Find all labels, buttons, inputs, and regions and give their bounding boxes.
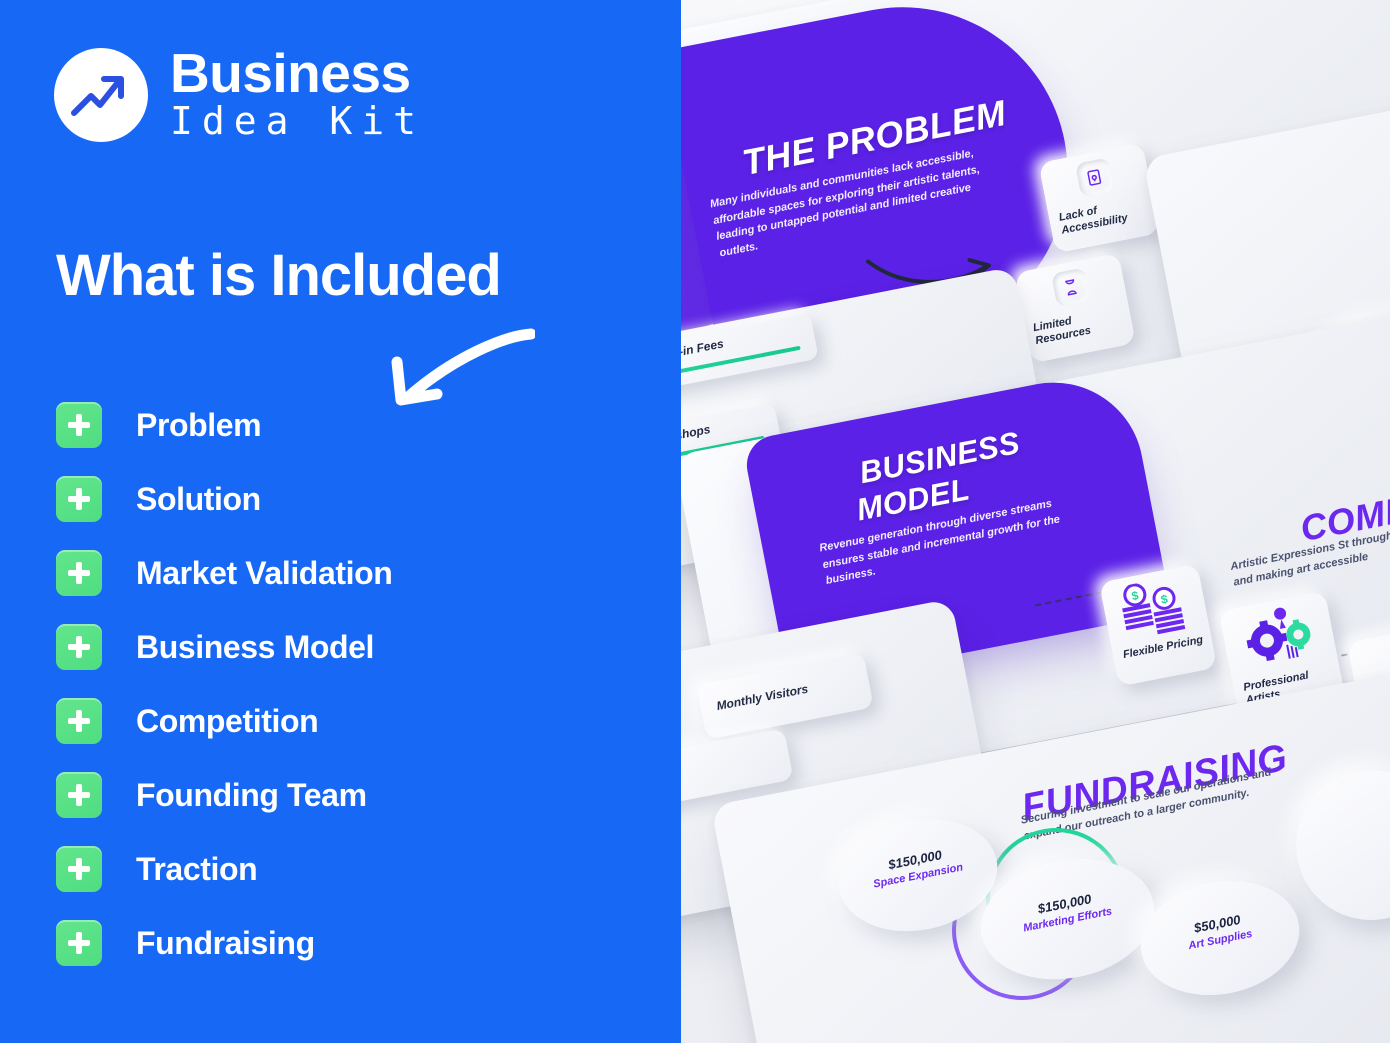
hourglass-icon	[1051, 267, 1091, 307]
list-item-founding-team[interactable]: Founding Team	[56, 758, 616, 832]
list-item-label: Founding Team	[136, 777, 367, 814]
left-info-panel: Business Idea Kit What is Included Probl…	[0, 0, 681, 1043]
brand-wordmark: Business Idea Kit	[170, 46, 425, 144]
brand-line-2: Idea Kit	[170, 100, 425, 144]
list-item-business-model[interactable]: Business Model	[56, 610, 616, 684]
list-item-label: Solution	[136, 481, 261, 518]
plus-icon	[56, 402, 102, 448]
growth-chart-arrow-icon	[54, 48, 148, 142]
list-item-competition[interactable]: Competition	[56, 684, 616, 758]
plus-icon	[56, 920, 102, 966]
money-stacks-icon: $ $	[1116, 575, 1191, 643]
plus-icon	[56, 624, 102, 670]
gears-icon	[1235, 600, 1319, 671]
poster-canvas: THE PROBLEM Many individuals and communi…	[0, 0, 1390, 1043]
problem-card-accessibility-label: Lack of Accessibility	[1058, 195, 1153, 238]
list-item-market-validation[interactable]: Market Validation	[56, 536, 616, 610]
plus-icon	[56, 550, 102, 596]
list-item-label: Business Model	[136, 629, 374, 666]
list-item-fundraising[interactable]: Fundraising	[56, 906, 616, 980]
included-items-list: Problem Solution Market Validation Busin…	[56, 388, 616, 980]
list-item-label: Market Validation	[136, 555, 392, 592]
plus-icon	[56, 846, 102, 892]
plus-icon	[56, 476, 102, 522]
page-title: What is Included	[56, 247, 501, 305]
problem-card-limited-resources-label: Limited Resources	[1032, 305, 1129, 348]
brand-logo: Business Idea Kit	[54, 46, 425, 144]
list-item-label: Traction	[136, 851, 257, 888]
list-item-label: Competition	[136, 703, 318, 740]
plus-icon	[56, 698, 102, 744]
list-item-label: Fundraising	[136, 925, 315, 962]
list-item-problem[interactable]: Problem	[56, 388, 616, 462]
list-item-traction[interactable]: Traction	[56, 832, 616, 906]
locked-document-icon	[1075, 157, 1115, 197]
competition-card-flexible-pricing[interactable]: $ $ Flexible Pricing	[1099, 563, 1217, 686]
traction-metric-label: Monthly Visitors	[715, 682, 809, 714]
plus-icon	[56, 772, 102, 818]
list-item-solution[interactable]: Solution	[56, 462, 616, 536]
brand-line-1: Business	[170, 46, 425, 100]
list-item-label: Problem	[136, 407, 261, 444]
